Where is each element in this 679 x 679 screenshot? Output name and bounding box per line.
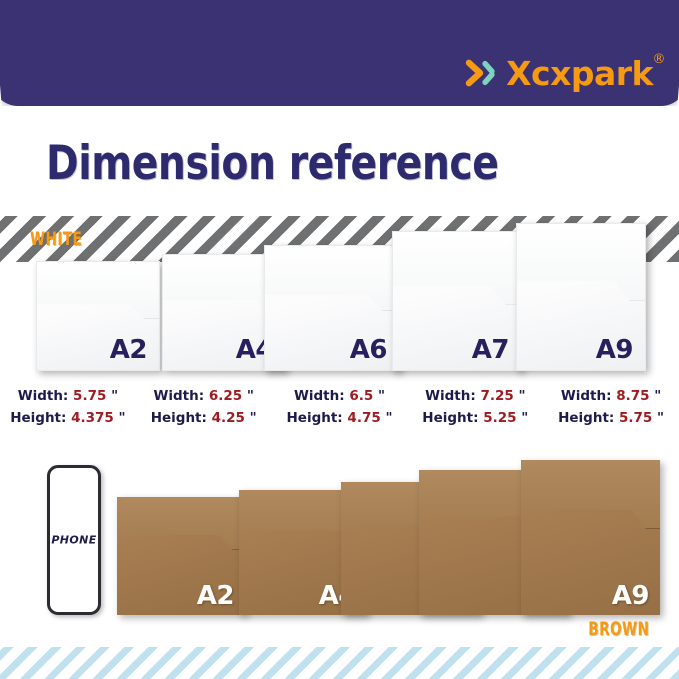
header-banner: Xcxpark ®	[0, 0, 679, 106]
brown-section-label: BROWN	[588, 618, 649, 640]
height-line: Height: 4.75 "	[272, 408, 408, 430]
white-envelope-a7: A7	[392, 231, 522, 371]
width-value: 6.5	[349, 388, 373, 404]
envelope-size-label: A9	[612, 581, 649, 611]
height-line: Height: 4.25 "	[136, 408, 272, 430]
width-line: Width: 6.5 "	[272, 386, 408, 408]
page-title: Dimension reference	[46, 140, 498, 187]
width-prefix: Width:	[18, 388, 69, 404]
envelope-flap	[117, 497, 245, 550]
dimension-cell-a6: Width: 6.5 " Height: 4.75 "	[272, 386, 408, 430]
registered-trademark-icon: ®	[653, 53, 666, 66]
width-line: Width: 6.25 "	[136, 386, 272, 408]
height-value: 4.75	[347, 410, 380, 426]
brand-lockup: Xcxpark ®	[463, 56, 653, 90]
height-value: 4.375	[71, 410, 114, 426]
width-prefix: Width:	[425, 388, 476, 404]
width-value: 8.75	[616, 388, 649, 404]
unit-mark: "	[521, 410, 528, 426]
phone-size-reference: PHONE	[47, 465, 101, 615]
envelope-flap	[521, 460, 660, 529]
envelope-flap	[265, 246, 399, 311]
width-line: Width: 8.75 "	[543, 386, 679, 408]
width-value: 5.75	[73, 388, 106, 404]
height-value: 5.75	[619, 410, 652, 426]
unit-mark: "	[119, 410, 126, 426]
envelope-size-label: A6	[350, 335, 387, 365]
unit-mark: "	[518, 388, 525, 404]
width-line: Width: 5.75 "	[0, 386, 136, 408]
unit-mark: "	[378, 388, 385, 404]
height-value: 4.25	[212, 410, 245, 426]
brand-name: Xcxpark ®	[506, 57, 653, 90]
white-envelope-a2: A2	[36, 261, 160, 371]
unit-mark: "	[111, 388, 118, 404]
brown-envelope-a2: A2	[117, 497, 245, 615]
dimension-cell-a4: Width: 6.25 " Height: 4.25 "	[136, 386, 272, 430]
height-prefix: Height:	[10, 410, 66, 426]
height-line: Height: 5.25 "	[407, 408, 543, 430]
x-chevron-logo-icon	[463, 56, 497, 90]
unit-mark: "	[657, 410, 664, 426]
envelope-size-label: A2	[197, 581, 234, 611]
blue-stripe-band	[0, 647, 679, 679]
envelope-size-label: A7	[472, 335, 509, 365]
width-value: 6.25	[209, 388, 242, 404]
unit-mark: "	[250, 410, 257, 426]
width-value: 7.25	[480, 388, 513, 404]
white-envelope-a9: A9	[516, 223, 646, 371]
envelope-flap	[37, 262, 159, 319]
height-value: 5.25	[483, 410, 516, 426]
width-line: Width: 7.25 "	[407, 386, 543, 408]
envelope-size-label: A9	[596, 335, 633, 365]
brown-envelope-a9: A9	[521, 460, 660, 615]
width-prefix: Width:	[294, 388, 345, 404]
dimension-cell-a2: Width: 5.75 " Height: 4.375 "	[0, 386, 136, 430]
height-prefix: Height:	[422, 410, 478, 426]
unit-mark: "	[385, 410, 392, 426]
envelope-flap	[393, 232, 521, 305]
height-prefix: Height:	[558, 410, 614, 426]
height-line: Height: 4.375 "	[0, 408, 136, 430]
white-envelope-row: A2 A4 A6 A7 A9	[0, 216, 679, 371]
width-prefix: Width:	[153, 388, 204, 404]
envelope-flap	[517, 224, 645, 301]
unit-mark: "	[247, 388, 254, 404]
white-envelope-a6: A6	[264, 245, 400, 371]
dimension-cell-a9: Width: 8.75 " Height: 5.75 "	[543, 386, 679, 430]
height-line: Height: 5.75 "	[543, 408, 679, 430]
brown-envelope-row: PHONE A2 A4 A6 A7 A9	[0, 455, 679, 615]
envelope-size-label: A2	[110, 335, 147, 365]
dimension-cell-a7: Width: 7.25 " Height: 5.25 "	[407, 386, 543, 430]
brand-name-text: Xcxpark	[506, 54, 653, 93]
phone-label: PHONE	[50, 534, 98, 547]
height-prefix: Height:	[287, 410, 343, 426]
height-prefix: Height:	[151, 410, 207, 426]
dimension-values-row: Width: 5.75 " Height: 4.375 " Width: 6.2…	[0, 386, 679, 430]
width-prefix: Width:	[561, 388, 612, 404]
unit-mark: "	[654, 388, 661, 404]
